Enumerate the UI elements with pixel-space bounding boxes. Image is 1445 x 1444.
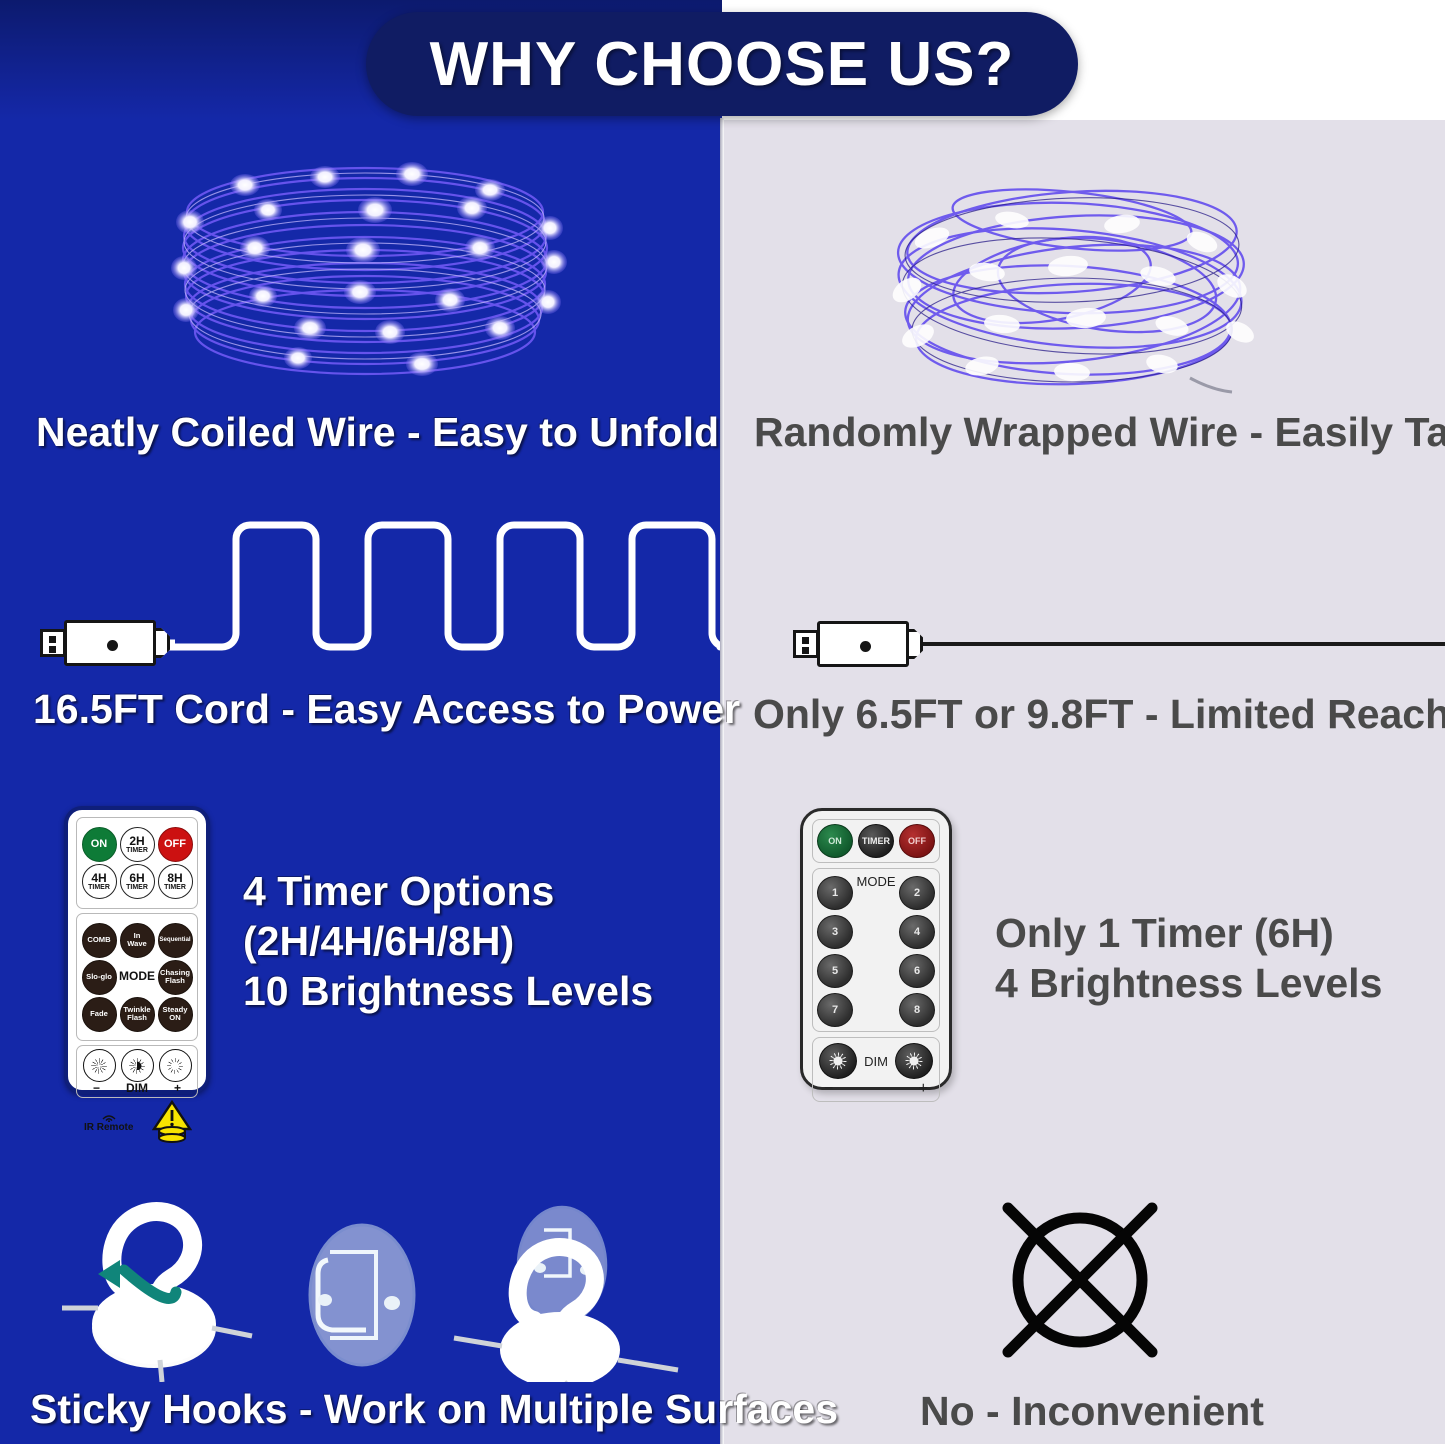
- btn-label: 5: [832, 965, 838, 977]
- btn-label: 7: [832, 1004, 838, 1016]
- mode-button-group: COMB In Wave Sequential Slo-glo MODE Cha…: [76, 913, 198, 1041]
- btn-label: 2: [914, 887, 920, 899]
- dim-label: DIM: [126, 1081, 148, 1095]
- warning-triangle-icon: [152, 1100, 192, 1144]
- remote-button-twinkle-flash[interactable]: Twinkle Flash: [120, 997, 155, 1032]
- btn-sublabel: TIMER: [164, 884, 186, 891]
- remote-button-off[interactable]: OFF: [158, 827, 193, 862]
- remote-button-steady-on[interactable]: Steady ON: [158, 997, 193, 1032]
- usb-cord-square-wave-image: [160, 505, 720, 665]
- remote-button-3[interactable]: 3: [817, 915, 853, 949]
- btn-label: TIMER: [862, 836, 890, 846]
- mode-number-group: MODE 1 2 3 4 5 6 7: [812, 868, 940, 1032]
- btn-label: 4H: [91, 872, 106, 884]
- usb-metal-tip: [40, 629, 66, 657]
- right-caption-remote: Only 1 Timer (6H) 4 Brightness Levels: [995, 908, 1415, 1008]
- dim-plus-label[interactable]: +: [174, 1081, 181, 1095]
- remote-button-comb[interactable]: COMB: [82, 923, 117, 958]
- ir-signal-icon: [101, 1112, 117, 1122]
- dim-label: DIM: [864, 1054, 888, 1069]
- remote-button-7[interactable]: 7: [817, 993, 853, 1027]
- left-caption-hooks: Sticky Hooks - Work on Multiple Surfaces: [30, 1386, 838, 1433]
- remote-button-2h-timer[interactable]: 2H TIMER: [120, 827, 155, 862]
- btn-label: 4: [914, 926, 920, 938]
- remote-button-6h-timer[interactable]: 6H TIMER: [120, 864, 155, 899]
- btn-label: 8H: [167, 872, 182, 884]
- remote-button-4h-timer[interactable]: 4H TIMER: [82, 864, 117, 899]
- page-title: WHY CHOOSE US?: [430, 29, 1015, 100]
- remote-button-8[interactable]: 8: [899, 993, 935, 1027]
- btn-label: ON: [91, 839, 108, 850]
- btn-label: 2H: [129, 835, 144, 847]
- neatly-coiled-wire-image: [150, 150, 580, 400]
- panel-divider: [720, 118, 724, 1444]
- remote-button-1[interactable]: 1: [817, 876, 853, 910]
- brightness-low-icon[interactable]: [83, 1049, 116, 1082]
- right-caption-cord: Only 6.5FT or 9.8FT - Limited Reach: [753, 691, 1445, 738]
- usb-body: [64, 620, 156, 666]
- remote-button-2[interactable]: 2: [899, 876, 935, 910]
- btn-sublabel: Flash: [165, 977, 185, 985]
- remote-button-6[interactable]: 6: [899, 954, 935, 988]
- btn-label: Sequential: [159, 937, 190, 943]
- remote-button-5[interactable]: 5: [817, 954, 853, 988]
- btn-label: Fade: [90, 1010, 108, 1018]
- remote-footer: IR Remote: [76, 1098, 198, 1144]
- brightness-mid-icon[interactable]: [121, 1049, 154, 1082]
- usb-cord-straight-image: [905, 639, 1445, 649]
- remote-button-off[interactable]: OFF: [899, 824, 935, 858]
- left-remote-line-2: (2H/4H/6H/8H): [243, 916, 703, 966]
- btn-label: ON: [828, 836, 842, 846]
- page-title-banner: WHY CHOOSE US?: [366, 12, 1078, 116]
- sticky-hooks-trio-image: [62, 1160, 682, 1382]
- btn-sublabel: ON: [169, 1014, 180, 1022]
- btn-sublabel: TIMER: [126, 847, 148, 854]
- crossed-circle-icon: [990, 1190, 1170, 1370]
- ir-remote-right[interactable]: ON TIMER OFF MODE 1 2 3: [800, 808, 952, 1090]
- left-caption-cord: 16.5FT Cord - Easy Access to Power: [33, 686, 740, 733]
- remote-button-slo-glo[interactable]: Slo-glo: [82, 960, 117, 995]
- dim-button-group: − DIM +: [76, 1045, 198, 1098]
- randomly-wrapped-wire-image: [872, 180, 1272, 400]
- right-caption-coil: Randomly Wrapped Wire - Easily Tangled: [754, 409, 1445, 456]
- dim-minus-label[interactable]: −: [824, 1080, 833, 1098]
- btn-label: COMB: [87, 936, 110, 944]
- right-remote-line-2: 4 Brightness Levels: [995, 958, 1415, 1008]
- remote-button-chasing-flash[interactable]: Chasing Flash: [158, 960, 193, 995]
- left-remote-line-1: 4 Timer Options: [243, 866, 703, 916]
- btn-label: 6H: [129, 872, 144, 884]
- dim-minus-label[interactable]: −: [93, 1081, 100, 1095]
- right-remote-line-1: Only 1 Timer (6H): [995, 908, 1415, 958]
- remote-button-timer[interactable]: TIMER: [858, 824, 894, 858]
- timer-button-group: ON 2H TIMER OFF 4H TIMER 6H TIMER 8H TIM…: [76, 817, 198, 909]
- brightness-down-icon[interactable]: [819, 1043, 857, 1079]
- btn-sublabel: TIMER: [126, 884, 148, 891]
- usb-body: [817, 621, 909, 667]
- mode-label: MODE: [120, 959, 155, 994]
- dim-button-group: DIM − +: [812, 1037, 940, 1102]
- left-caption-remote: 4 Timer Options (2H/4H/6H/8H) 10 Brightn…: [243, 866, 703, 1016]
- dim-plus-label[interactable]: +: [919, 1080, 928, 1098]
- ir-remote-label: IR Remote: [84, 1122, 133, 1133]
- ir-remote-left[interactable]: ON 2H TIMER OFF 4H TIMER 6H TIMER 8H TIM…: [64, 806, 210, 1094]
- remote-button-4[interactable]: 4: [899, 915, 935, 949]
- remote-button-on[interactable]: ON: [817, 824, 853, 858]
- top-button-group: ON TIMER OFF: [812, 819, 940, 863]
- remote-button-sequential[interactable]: Sequential: [158, 923, 193, 958]
- btn-label: 6: [914, 965, 920, 977]
- btn-sublabel: Flash: [127, 1014, 147, 1022]
- btn-label: OFF: [164, 839, 186, 850]
- right-caption-hooks: No - Inconvenient: [920, 1388, 1264, 1435]
- remote-button-on[interactable]: ON: [82, 827, 117, 862]
- btn-label: 3: [832, 926, 838, 938]
- left-remote-line-3: 10 Brightness Levels: [243, 966, 703, 1016]
- remote-button-fade[interactable]: Fade: [82, 997, 117, 1032]
- remote-button-8h-timer[interactable]: 8H TIMER: [158, 864, 193, 899]
- remote-button-in-wave[interactable]: In Wave: [120, 923, 155, 958]
- btn-label: 1: [832, 887, 838, 899]
- brightness-high-icon[interactable]: [159, 1049, 192, 1082]
- btn-label: 8: [914, 1004, 920, 1016]
- left-caption-coil: Neatly Coiled Wire - Easy to Unfold: [36, 409, 719, 456]
- btn-label: Slo-glo: [86, 973, 112, 981]
- btn-sublabel: Wave: [127, 940, 147, 948]
- usb-metal-tip: [793, 630, 819, 658]
- brightness-up-icon[interactable]: [895, 1043, 933, 1079]
- btn-label: OFF: [908, 836, 926, 846]
- comparison-infographic: WHY CHOOSE US?: [0, 0, 1445, 1444]
- btn-sublabel: TIMER: [88, 884, 110, 891]
